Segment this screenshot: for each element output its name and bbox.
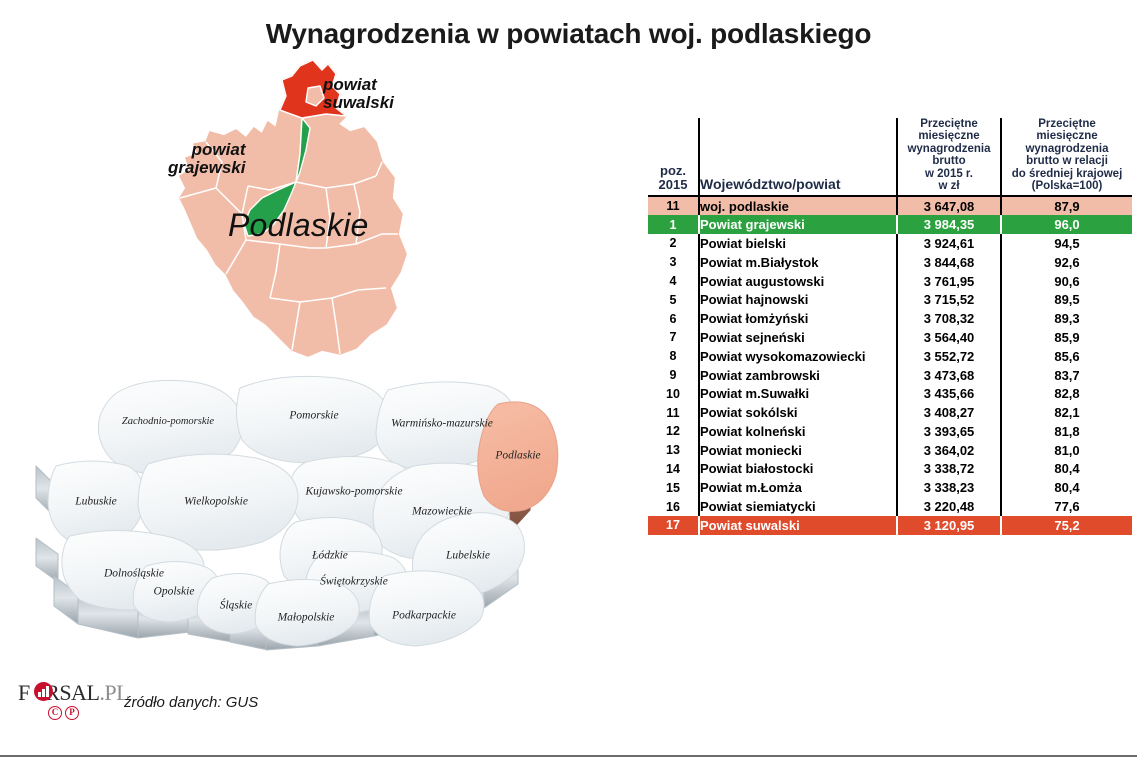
table-row-rank: 17	[648, 516, 699, 535]
table-row: 10Powiat m.Suwałki3 435,6682,8	[648, 384, 1132, 403]
podlaskie-region-label: Podlaskie	[228, 207, 369, 244]
table-row-relation: 96,0	[1001, 215, 1132, 234]
voivodeship-label-zachodniopomorskie: Zachodnio-pomorskie	[122, 416, 214, 427]
table-row-rank: 11	[648, 196, 699, 215]
voivodeship-label-swietokrzyskie: Świętokrzyskie	[320, 574, 388, 588]
voivodeship-label-lubuskie: Lubuskie	[74, 496, 117, 508]
table-row-relation: 87,9	[1001, 196, 1132, 215]
voivodeship-label-podlaskie: Podlaskie	[494, 450, 540, 462]
table-row-name: Powiat wysokomazowiecki	[699, 347, 897, 366]
table-row-name: Powiat augustowski	[699, 272, 897, 291]
page-title: Wynagrodzenia w powiatach woj. podlaskie…	[0, 18, 1137, 50]
voivodeship-label-warminsko-mazurskie: Warmińsko-mazurskie	[391, 418, 493, 430]
table-row-rank: 5	[648, 290, 699, 309]
table-row-value: 3 435,66	[897, 384, 1001, 403]
voivodeship-label-slaskie: Śląskie	[220, 598, 253, 612]
powiat-suwalski-label: powiat suwalski	[323, 76, 394, 113]
table-row-rank: 8	[648, 347, 699, 366]
table-row-rank: 6	[648, 309, 699, 328]
table-row-rank: 13	[648, 441, 699, 460]
table-row-rank: 7	[648, 328, 699, 347]
table-row-rank: 10	[648, 384, 699, 403]
table-row-name: Powiat moniecki	[699, 441, 897, 460]
column-header-value: Przeciętne miesięczne wynagrodzenia brut…	[897, 118, 1001, 196]
voivodeship-label-pomorskie: Pomorskie	[288, 410, 338, 422]
table-row-value: 3 338,23	[897, 478, 1001, 497]
table-row-name: Powiat sejneński	[699, 328, 897, 347]
table-row: 8Powiat wysokomazowiecki3 552,7285,6	[648, 347, 1132, 366]
infographic-canvas: Wynagrodzenia w powiatach woj. podlaskie…	[0, 0, 1137, 757]
wages-table: poz. 2015 Województwo/powiat Przeciętne …	[648, 118, 1132, 535]
column-header-relation: Przeciętne miesięczne wynagrodzenia brut…	[1001, 118, 1132, 196]
table-row-name: Powiat suwalski	[699, 516, 897, 535]
table-row-value: 3 220,48	[897, 497, 1001, 516]
table-row-rank: 15	[648, 478, 699, 497]
table-row-value: 3 715,52	[897, 290, 1001, 309]
table-row-rank: 12	[648, 422, 699, 441]
table-row: 3Powiat m.Białystok3 844,6892,6	[648, 253, 1132, 272]
table-row-value: 3 552,72	[897, 347, 1001, 366]
column-header-name: Województwo/powiat	[699, 118, 897, 196]
table-row: 14Powiat białostocki3 338,7280,4	[648, 460, 1132, 479]
table-row: 17Powiat suwalski3 120,9575,2	[648, 516, 1132, 535]
table-row-rank: 2	[648, 234, 699, 253]
table-row-rank: 3	[648, 253, 699, 272]
table-row-relation: 81,8	[1001, 422, 1132, 441]
copyright-badge: C	[48, 706, 62, 720]
table-row-rank: 14	[648, 460, 699, 479]
table-row-name: Powiat bielski	[699, 234, 897, 253]
table-header: poz. 2015 Województwo/powiat Przeciętne …	[648, 118, 1132, 196]
forsal-logo[interactable]: FORSAL.PL C P	[18, 678, 128, 724]
voivodeship-label-podkarpackie: Podkarpackie	[391, 610, 456, 622]
poland-map-svg: Zachodnio-pomorskie Pomorskie Warmińsko-…	[18, 370, 588, 660]
table-row-relation: 77,6	[1001, 497, 1132, 516]
table-row: 16Powiat siemiatycki3 220,4877,6	[648, 497, 1132, 516]
table-row-relation: 85,9	[1001, 328, 1132, 347]
table-row-value: 3 564,40	[897, 328, 1001, 347]
table-row-value: 3 364,02	[897, 441, 1001, 460]
table-row-relation: 89,3	[1001, 309, 1132, 328]
phonogram-badge: P	[65, 706, 79, 720]
table-row-name: Powiat siemiatycki	[699, 497, 897, 516]
table-row-relation: 82,1	[1001, 403, 1132, 422]
voivodeship-label-malopolskie: Małopolskie	[277, 612, 335, 624]
table-row-name: Powiat łomżyński	[699, 309, 897, 328]
table-row-name: Powiat hajnowski	[699, 290, 897, 309]
forsal-chart-icon	[34, 682, 53, 701]
voivodeship-label-dolnoslaskie: Dolnośląskie	[103, 568, 164, 580]
voivodeship-label-lodzkie: Łódzkie	[311, 550, 348, 562]
table-row: 11woj. podlaskie3 647,0887,9	[648, 196, 1132, 215]
table-row-value: 3 984,35	[897, 215, 1001, 234]
voivodeship-label-wielkopolskie: Wielkopolskie	[184, 496, 248, 508]
table-row-name: woj. podlaskie	[699, 196, 897, 215]
table-row-relation: 94,5	[1001, 234, 1132, 253]
column-header-rank-line1: poz.	[660, 163, 686, 178]
table-row-relation: 85,6	[1001, 347, 1132, 366]
footer: FORSAL.PL C P źródło danych: GUS	[0, 672, 1137, 732]
table-row: 1Powiat grajewski3 984,3596,0	[648, 215, 1132, 234]
table-row-value: 3 844,68	[897, 253, 1001, 272]
column-header-rank: poz. 2015	[648, 118, 699, 196]
table-row: 11Powiat sokólski3 408,2782,1	[648, 403, 1132, 422]
voivodeship-label-mazowieckie: Mazowieckie	[411, 506, 472, 518]
table-row: 6Powiat łomżyński3 708,3289,3	[648, 309, 1132, 328]
table-row-name: Powiat sokólski	[699, 403, 897, 422]
table-row: 5Powiat hajnowski3 715,5289,5	[648, 290, 1132, 309]
table-row-value: 3 338,72	[897, 460, 1001, 479]
poland-voivodeship-map: Zachodnio-pomorskie Pomorskie Warmińsko-…	[18, 370, 588, 660]
table-row-relation: 89,5	[1001, 290, 1132, 309]
table-row: 13Powiat moniecki3 364,0281,0	[648, 441, 1132, 460]
table-row-relation: 80,4	[1001, 478, 1132, 497]
table-row-value: 3 408,27	[897, 403, 1001, 422]
table-row-value: 3 647,08	[897, 196, 1001, 215]
table-row-name: Powiat m.Łomża	[699, 478, 897, 497]
table-row-name: Powiat m.Białystok	[699, 253, 897, 272]
voivodeship-label-lubelskie: Lubelskie	[445, 550, 490, 562]
table-row-name: Powiat grajewski	[699, 215, 897, 234]
table-row-name: Powiat białostocki	[699, 460, 897, 479]
table-row-rank: 4	[648, 272, 699, 291]
table-row-relation: 75,2	[1001, 516, 1132, 535]
table-row: 12Powiat kolneński3 393,6581,8	[648, 422, 1132, 441]
forsal-logo-f: F	[18, 680, 30, 705]
table-row: 7Powiat sejneński3 564,4085,9	[648, 328, 1132, 347]
table-row-relation: 81,0	[1001, 441, 1132, 460]
table-row-rank: 9	[648, 366, 699, 385]
voivodeship-label-kujawsko-pomorskie: Kujawsko-pomorskie	[304, 486, 402, 498]
powiat-grajewski-label: powiat grajewski	[168, 141, 246, 178]
table-row-rank: 1	[648, 215, 699, 234]
table-header-row: poz. 2015 Województwo/powiat Przeciętne …	[648, 118, 1132, 196]
table-row-value: 3 473,68	[897, 366, 1001, 385]
table-row: 9Powiat zambrowski3 473,6883,7	[648, 366, 1132, 385]
table-row: 4Powiat augustowski3 761,9590,6	[648, 272, 1132, 291]
table-row-rank: 11	[648, 403, 699, 422]
table-row-relation: 83,7	[1001, 366, 1132, 385]
table-row-value: 3 924,61	[897, 234, 1001, 253]
table-row-relation: 82,8	[1001, 384, 1132, 403]
table-row-relation: 90,6	[1001, 272, 1132, 291]
table-row-name: Powiat zambrowski	[699, 366, 897, 385]
table-row-value: 3 761,95	[897, 272, 1001, 291]
table-row-value: 3 393,65	[897, 422, 1001, 441]
forsal-logo-rsal: RSAL	[45, 680, 99, 705]
table-row-relation: 80,4	[1001, 460, 1132, 479]
table-row-relation: 92,6	[1001, 253, 1132, 272]
column-header-rank-line2: 2015	[659, 177, 688, 192]
voivodeship-label-opolskie: Opolskie	[154, 586, 195, 598]
table-row: 15Powiat m.Łomża3 338,2380,4	[648, 478, 1132, 497]
table-body: 11woj. podlaskie3 647,0887,91Powiat graj…	[648, 196, 1132, 534]
table-row-name: Powiat kolneński	[699, 422, 897, 441]
table-row: 2Powiat bielski3 924,6194,5	[648, 234, 1132, 253]
source-note: źródło danych: GUS	[124, 694, 258, 711]
table-row-value: 3 120,95	[897, 516, 1001, 535]
table-row-rank: 16	[648, 497, 699, 516]
table-row-name: Powiat m.Suwałki	[699, 384, 897, 403]
table-row-value: 3 708,32	[897, 309, 1001, 328]
